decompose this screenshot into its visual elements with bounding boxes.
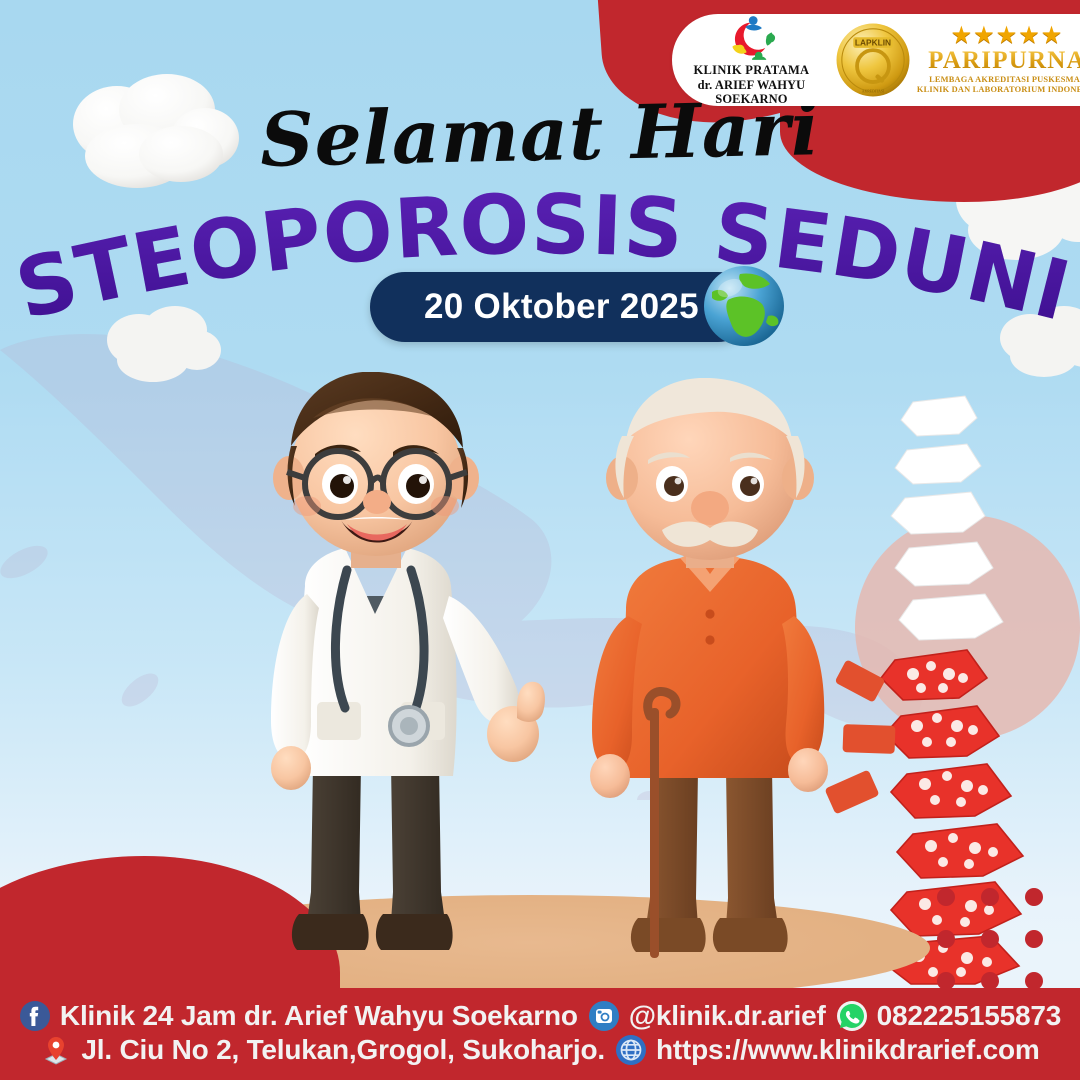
- contact-footer: Klinik 24 Jam dr. Arief Wahyu Soekarno @…: [0, 988, 1080, 1080]
- footer-address[interactable]: Jl. Ciu No 2, Telukan,Grogol, Sukoharjo.: [40, 1034, 605, 1066]
- footer-website-text: https://www.klinikdrarief.com: [656, 1035, 1040, 1064]
- footer-row-1: Klinik 24 Jam dr. Arief Wahyu Soekarno @…: [0, 1000, 1080, 1032]
- footer-instagram-text: @klinik.dr.arief: [629, 1001, 826, 1030]
- svg-text:LAPKLIN: LAPKLIN: [855, 38, 891, 48]
- clinic-logo-block: KLINIK PRATAMA dr. ARIEF WAHYU SOEKARNO: [672, 13, 831, 106]
- footer-instagram[interactable]: @klinik.dr.arief: [588, 1000, 826, 1032]
- dot-grid-decor: [937, 888, 1045, 990]
- clinic-people-crescent-logo: [723, 15, 779, 61]
- location-pin-icon: [40, 1034, 72, 1066]
- clinic-doctor-name: dr. ARIEF WAHYU SOEKARNO: [672, 78, 831, 107]
- facebook-icon: [19, 1000, 51, 1032]
- instagram-icon: [588, 1000, 620, 1032]
- footer-address-text: Jl. Ciu No 2, Telukan,Grogol, Sukoharjo.: [81, 1035, 605, 1064]
- accreditation-body-line2: KLINIK DAN LABORATORIUM INDONESIA: [917, 85, 1080, 96]
- clinic-name: KLINIK PRATAMA: [694, 63, 810, 77]
- footer-row-2: Jl. Ciu No 2, Telukan,Grogol, Sukoharjo.…: [0, 1034, 1080, 1066]
- doctor-illustration: [195, 372, 585, 972]
- whatsapp-icon: [836, 1000, 868, 1032]
- footer-facebook[interactable]: Klinik 24 Jam dr. Arief Wahyu Soekarno: [19, 1000, 578, 1032]
- accreditation-body-line1: LEMBAGA AKREDITASI PUSKESMAS: [929, 75, 1080, 86]
- footer-website[interactable]: https://www.klinikdrarief.com: [615, 1034, 1040, 1066]
- footer-whatsapp-text: 082225155873: [877, 1001, 1061, 1030]
- footer-whatsapp[interactable]: 082225155873: [836, 1000, 1061, 1032]
- poster-canvas: KLINIK PRATAMA dr. ARIEF WAHYU SOEKARNO …: [0, 0, 1080, 1080]
- earth-globe-icon: [702, 264, 786, 348]
- accreditation-grade: PARIPURNA: [928, 48, 1080, 74]
- accreditation-block: LAPKLIN AKREDITASI ★★★★★ PARIPURNA LEMBA…: [831, 22, 1080, 98]
- footer-facebook-text: Klinik 24 Jam dr. Arief Wahyu Soekarno: [60, 1001, 578, 1030]
- lapklin-gold-seal: LAPKLIN AKREDITASI: [835, 22, 911, 98]
- globe-web-icon: [615, 1034, 647, 1066]
- svg-text:AKREDITASI: AKREDITASI: [862, 90, 885, 94]
- date-badge: 20 Oktober 2025: [370, 272, 753, 342]
- header-branding-panel: KLINIK PRATAMA dr. ARIEF WAHYU SOEKARNO …: [672, 14, 1080, 106]
- star-rating-icons: ★★★★★: [951, 24, 1064, 48]
